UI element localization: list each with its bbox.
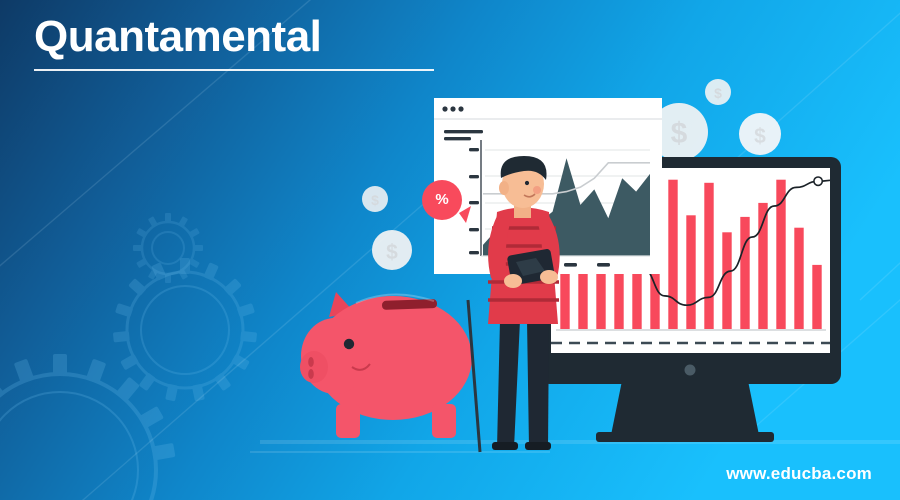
svg-text:$: $ bbox=[371, 192, 379, 208]
monitor-stand-base bbox=[596, 432, 774, 442]
bar bbox=[686, 215, 695, 330]
coin-group-top: $ $ $ bbox=[650, 79, 781, 161]
bar bbox=[722, 232, 731, 330]
percent-bubble-label: % bbox=[424, 182, 460, 218]
person-cheek bbox=[533, 186, 541, 194]
piggy-leg-back bbox=[432, 404, 456, 438]
person-ear bbox=[499, 181, 509, 195]
coin-large-left: $ bbox=[372, 230, 412, 270]
coin-top-small: $ bbox=[705, 79, 731, 105]
coin-top-right: $ bbox=[739, 113, 781, 155]
coin-small-left: $ bbox=[362, 186, 388, 212]
bar bbox=[740, 217, 749, 330]
banner-canvas: Quantamental $ $ bbox=[0, 0, 900, 500]
piggy-nostril-1 bbox=[308, 357, 314, 367]
person-leg-left bbox=[497, 320, 520, 448]
person-hand-left bbox=[504, 274, 522, 288]
svg-text:$: $ bbox=[754, 125, 766, 148]
window-dots-icon bbox=[442, 106, 463, 111]
illustration-group: $ $ $ $ $ bbox=[0, 0, 900, 500]
bar bbox=[668, 180, 677, 330]
person-shoe-right bbox=[525, 442, 551, 450]
piggy-bank bbox=[300, 292, 472, 438]
svg-text:$: $ bbox=[386, 241, 398, 264]
person-hand-right bbox=[540, 270, 558, 284]
site-watermark: www.educba.com bbox=[726, 464, 872, 484]
pointer-stick bbox=[468, 300, 480, 452]
monitor-power-dot bbox=[685, 365, 696, 376]
person-eye bbox=[525, 181, 529, 185]
illustration-svg: $ $ $ $ $ bbox=[0, 0, 900, 500]
svg-text:$: $ bbox=[714, 85, 722, 101]
piggy-snout bbox=[300, 351, 328, 383]
piggy-eye bbox=[344, 339, 354, 349]
piggy-coin-slot bbox=[382, 299, 437, 310]
piggy-nostril-2 bbox=[308, 369, 314, 379]
piggy-leg-front bbox=[336, 404, 360, 438]
trend-marker bbox=[814, 177, 822, 185]
person-leg-right bbox=[527, 320, 549, 448]
bar bbox=[794, 228, 803, 330]
person-shoe-left bbox=[492, 442, 518, 450]
svg-text:$: $ bbox=[671, 117, 688, 150]
coin-group-left: $ $ bbox=[362, 186, 412, 270]
bar bbox=[812, 265, 821, 330]
bar bbox=[704, 183, 713, 330]
